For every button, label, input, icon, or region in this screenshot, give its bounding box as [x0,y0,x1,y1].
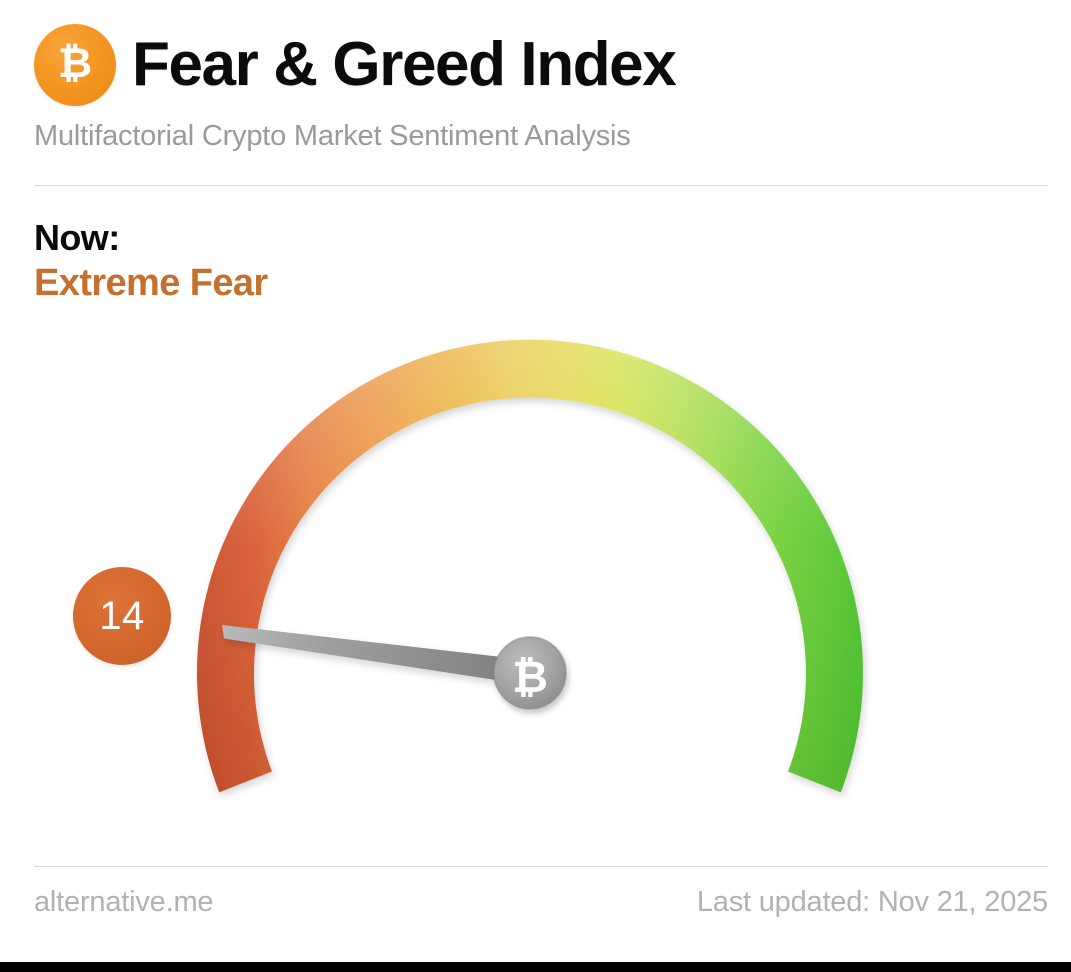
status-block: Now: Extreme Fear [34,218,268,305]
header-divider [34,185,1048,186]
bottom-bar [0,962,1071,972]
gauge-value-badge: 14 [73,567,171,665]
bitcoin-logo-icon: ₿ [34,24,116,106]
gauge-chart: ₿ [0,300,1071,840]
source-link[interactable]: alternative.me [34,886,213,919]
header: ₿ Fear & Greed Index Multifactorial Cryp… [34,22,1048,151]
page-title: Fear & Greed Index [132,34,675,96]
svg-text:₿: ₿ [58,39,92,86]
gauge-needle [222,625,537,686]
footer-divider [34,866,1048,867]
status-badge: Extreme Fear [34,262,268,305]
footer: alternative.me Last updated: Nov 21, 202… [34,886,1048,919]
page-subtitle: Multifactorial Crypto Market Sentiment A… [34,122,1048,151]
bitcoin-hub-icon: ₿ [494,637,566,709]
svg-text:₿: ₿ [512,653,548,702]
title-row: ₿ Fear & Greed Index [34,22,1048,108]
fear-greed-index-card: ₿ Fear & Greed Index Multifactorial Cryp… [0,0,1071,962]
gauge-arc [197,340,863,793]
status-now-label: Now: [34,218,268,258]
gauge-value: 14 [99,596,145,636]
last-updated-text: Last updated: Nov 21, 2025 [697,886,1048,919]
